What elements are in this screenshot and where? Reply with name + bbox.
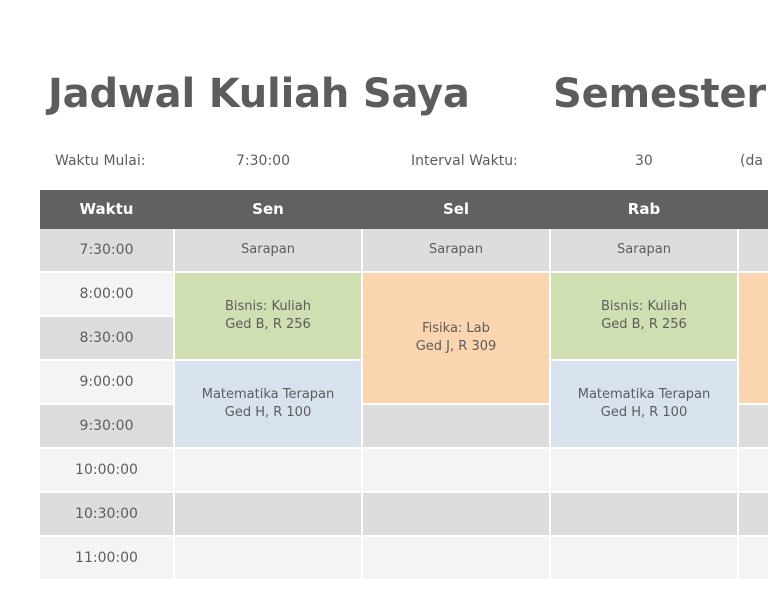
schedule-cell[interactable]: Sarapan: [551, 229, 737, 271]
grid-body: 7:30:00SarapanSarapanSarapan8:00:008:30:…: [40, 229, 768, 590]
event-course: Matematika Terapan: [578, 386, 711, 404]
column-header-rab[interactable]: Rab: [551, 190, 737, 229]
schedule-event[interactable]: Bisnis: KuliahGed B, R 256: [551, 273, 737, 359]
event-location: Ged B, R 256: [601, 316, 687, 334]
schedule-event[interactable]: Matematika TerapanGed H, R 100: [551, 361, 737, 447]
title-row: Jadwal Kuliah Saya Semester: [0, 68, 768, 126]
event-course: Bisnis: Kuliah: [225, 298, 311, 316]
schedule-cell[interactable]: [363, 493, 549, 535]
time-cell[interactable]: 10:00:00: [40, 449, 173, 491]
event-location: Ged H, R 100: [225, 404, 311, 422]
event-location: Ged H, R 100: [601, 404, 687, 422]
column-header-sen[interactable]: Sen: [175, 190, 361, 229]
start-time-value[interactable]: 7:30:00: [236, 150, 290, 172]
table-row: 10:30:00: [40, 493, 768, 537]
time-cell[interactable]: 9:30:00: [40, 405, 173, 447]
schedule-cell[interactable]: [739, 229, 768, 271]
schedule-cell[interactable]: [739, 405, 768, 447]
schedule-page: Jadwal Kuliah Saya Semester Waktu Mulai:…: [0, 0, 768, 590]
schedule-cell[interactable]: Sarapan: [363, 229, 549, 271]
schedule-event[interactable]: Fisika: LabGed J, R 309: [363, 273, 549, 403]
schedule-event[interactable]: Bisnis: KuliahGed B, R 256: [175, 273, 361, 359]
column-header-extra[interactable]: [739, 190, 768, 229]
interval-label: Interval Waktu:: [411, 150, 518, 172]
column-header-sel[interactable]: Sel: [363, 190, 549, 229]
table-row: 10:00:00: [40, 449, 768, 493]
schedule-cell[interactable]: [175, 493, 361, 535]
page-title: Jadwal Kuliah Saya: [48, 68, 470, 120]
schedule-event[interactable]: Matematika TerapanGed H, R 100: [175, 361, 361, 447]
event-location: Ged J, R 309: [416, 338, 497, 356]
event-course: Matematika Terapan: [202, 386, 335, 404]
table-row: 7:30:00SarapanSarapanSarapan: [40, 229, 768, 273]
time-cell[interactable]: 8:30:00: [40, 317, 173, 359]
schedule-cell[interactable]: [551, 493, 737, 535]
table-row: 11:00:00: [40, 537, 768, 581]
schedule-cell[interactable]: [739, 449, 768, 491]
schedule-cell[interactable]: [363, 405, 549, 447]
interval-unit-note: (da: [740, 150, 763, 172]
parameters-row: Waktu Mulai: 7:30:00 Interval Waktu: 30 …: [0, 150, 768, 176]
schedule-cell[interactable]: [739, 493, 768, 535]
page-title-semester: Semester: [553, 68, 766, 120]
time-cell[interactable]: 10:30:00: [40, 493, 173, 535]
time-cell[interactable]: 7:30:00: [40, 229, 173, 271]
event-course: Bisnis: Kuliah: [601, 298, 687, 316]
start-time-label: Waktu Mulai:: [55, 150, 145, 172]
interval-value[interactable]: 30: [635, 150, 653, 172]
schedule-event[interactable]: [739, 273, 768, 403]
schedule-grid: WaktuSenSelRab 7:30:00SarapanSarapanSara…: [40, 190, 768, 590]
time-cell[interactable]: 8:00:00: [40, 273, 173, 315]
event-location: Ged B, R 256: [225, 316, 311, 334]
schedule-cell[interactable]: [175, 449, 361, 491]
time-cell[interactable]: 9:00:00: [40, 361, 173, 403]
schedule-cell[interactable]: [551, 449, 737, 491]
schedule-cell[interactable]: Sarapan: [175, 229, 361, 271]
grid-header-row: WaktuSenSelRab: [40, 190, 768, 229]
schedule-cell[interactable]: [363, 537, 549, 579]
schedule-cell[interactable]: [739, 537, 768, 579]
schedule-cell[interactable]: [551, 537, 737, 579]
schedule-cell[interactable]: [363, 449, 549, 491]
event-course: Fisika: Lab: [422, 320, 490, 338]
schedule-cell[interactable]: [175, 537, 361, 579]
time-cell[interactable]: 11:00:00: [40, 537, 173, 579]
column-header-waktu[interactable]: Waktu: [40, 190, 173, 229]
